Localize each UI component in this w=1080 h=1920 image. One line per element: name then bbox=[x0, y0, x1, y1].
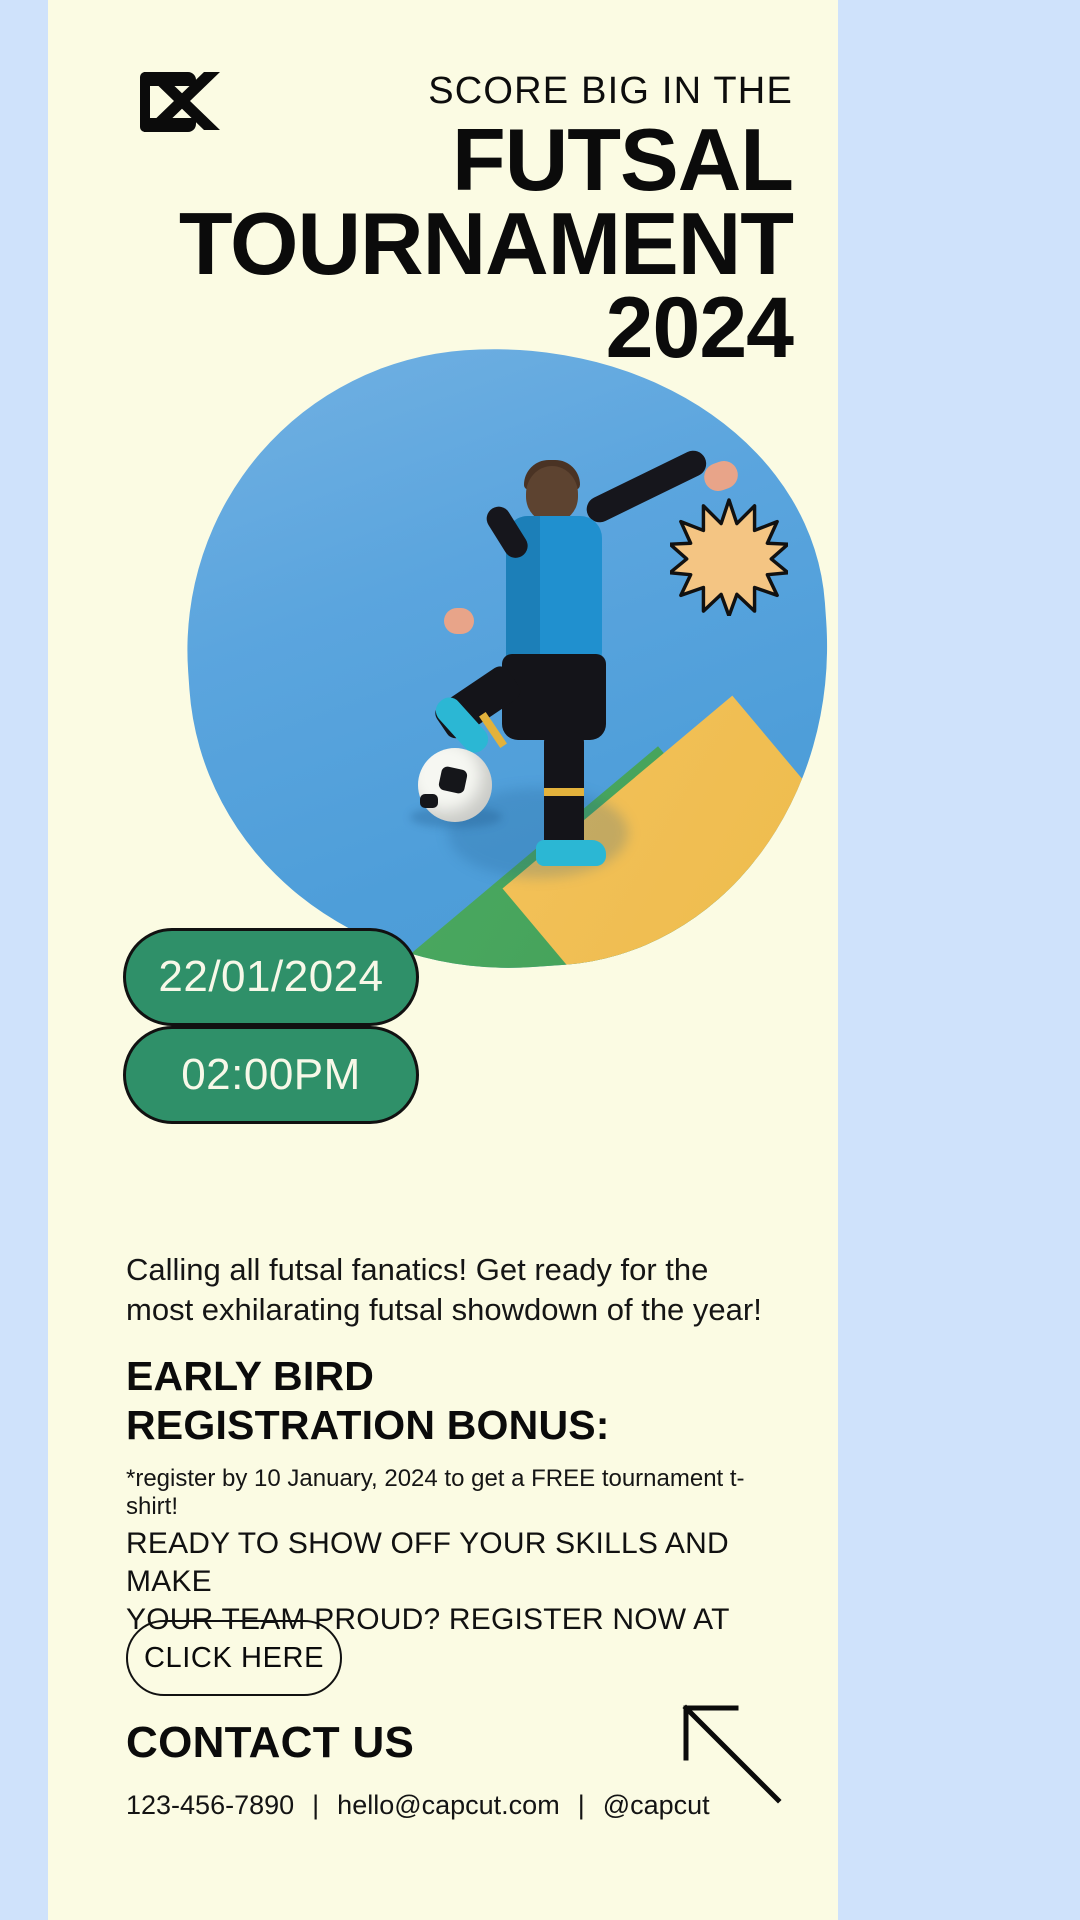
event-date-pill: 22/01/2024 bbox=[123, 928, 419, 1026]
event-time-pill: 02:00PM bbox=[123, 1026, 419, 1124]
contact-email[interactable]: hello@capcut.com bbox=[337, 1790, 560, 1821]
registration-note: *register by 10 January, 2024 to get a F… bbox=[126, 1465, 786, 1521]
headline-kicker: SCORE BIG IN THE bbox=[428, 70, 793, 113]
title-line-2: TOURNAMENT bbox=[48, 202, 793, 286]
cta-line-1: READY TO SHOW OFF YOUR SKILLS AND MAKE bbox=[126, 1525, 786, 1601]
contact-phone[interactable]: 123-456-7890 bbox=[126, 1790, 294, 1821]
click-here-button[interactable]: CLICK HERE bbox=[126, 1620, 342, 1696]
page-title: FUTSAL TOURNAMENT 2024 bbox=[48, 118, 793, 369]
title-line-1: FUTSAL bbox=[48, 118, 793, 202]
intro-paragraph: Calling all futsal fanatics! Get ready f… bbox=[126, 1250, 766, 1329]
contact-separator-1: | bbox=[312, 1790, 319, 1821]
hero-image bbox=[167, 326, 838, 989]
poster-canvas: SCORE BIG IN THE FUTSAL TOURNAMENT 2024 bbox=[48, 0, 838, 1920]
contact-details: 123-456-7890 | hello@capcut.com | @capcu… bbox=[126, 1790, 710, 1821]
bonus-heading: EARLY BIRD REGISTRATION BONUS: bbox=[126, 1352, 766, 1450]
contact-separator-2: | bbox=[578, 1790, 585, 1821]
arrow-up-left-icon bbox=[678, 1700, 788, 1810]
starburst-icon bbox=[670, 498, 788, 616]
bonus-heading-line-2: REGISTRATION BONUS: bbox=[126, 1401, 766, 1450]
contact-heading: CONTACT US bbox=[126, 1718, 414, 1768]
soccer-ball-icon bbox=[418, 748, 492, 822]
bonus-heading-line-1: EARLY BIRD bbox=[126, 1352, 766, 1401]
